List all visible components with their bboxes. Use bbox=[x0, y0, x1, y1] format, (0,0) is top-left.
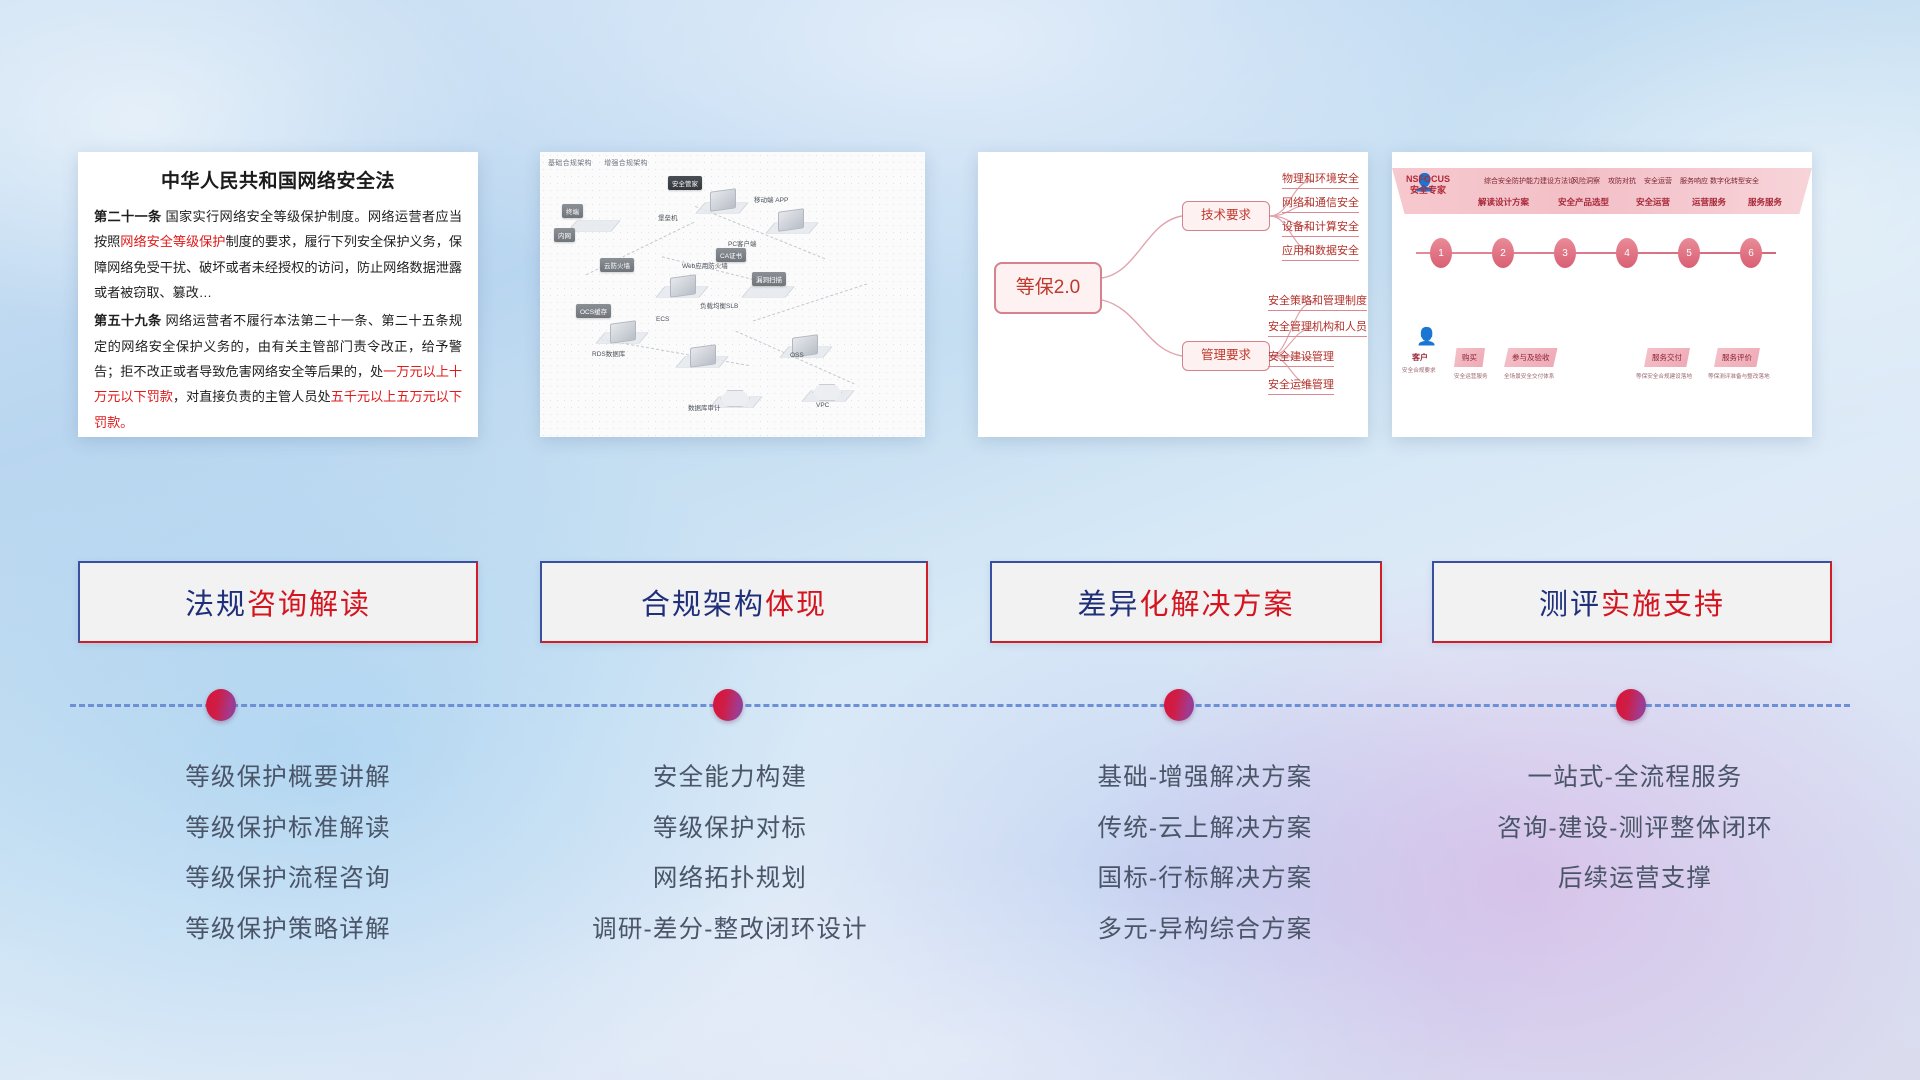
list-item: 等级保护策略详解 bbox=[78, 905, 498, 956]
list-item: 安全能力构建 bbox=[520, 753, 940, 804]
timeline-step: 3 bbox=[1554, 238, 1576, 268]
card-architecture-diagram: 基础合规架构 增强合规架构 bbox=[540, 152, 925, 437]
timeline-dot-2 bbox=[713, 689, 743, 721]
header-chip: 数字化转型安全 bbox=[1710, 176, 1759, 186]
arch-header-left: 基础合规架构 bbox=[548, 160, 592, 167]
bottom-tag: 服务评价 bbox=[1714, 348, 1760, 367]
timeline-dashed-line bbox=[70, 704, 1850, 707]
header-chip: 攻防对抗 bbox=[1608, 176, 1636, 186]
banner-label-2-blue: 合规架构 bbox=[641, 589, 765, 621]
banner-label-3: 差异化解决方案 bbox=[1077, 581, 1294, 623]
list-item: 调研-差分-整改闭环设计 bbox=[520, 905, 940, 956]
arch-cube bbox=[690, 344, 716, 368]
list-item: 一站式-全流程服务 bbox=[1430, 753, 1840, 804]
banner-button-compliance-architecture[interactable]: 合规架构体现 bbox=[540, 561, 928, 643]
banner-label-3-blue: 差异 bbox=[1077, 589, 1139, 621]
arch-node-chip: OCS缓存 bbox=[576, 304, 611, 318]
arch-label: 堡垒机 bbox=[658, 212, 678, 222]
arch-label: 负载均衡SLB bbox=[700, 300, 738, 310]
customer-person-icon: 👤 bbox=[1416, 328, 1437, 345]
arch-plate bbox=[567, 221, 620, 232]
banner-button-differentiated-solution[interactable]: 差异化解决方案 bbox=[990, 561, 1382, 643]
arch-header-right: 增强合规架构 bbox=[604, 160, 648, 167]
arch-node-chip: 终端 bbox=[562, 204, 583, 218]
mindmap-canvas: 等保2.0 技术要求 管理要求 物理和环境安全 网络和通信安全 设备和计算安全 … bbox=[978, 152, 1368, 437]
architecture-header: 基础合规架构 增强合规架构 bbox=[548, 158, 658, 168]
list-item: 基础-增强解决方案 bbox=[1010, 753, 1400, 804]
bottom-sub: 等保测评准备与整改落地 bbox=[1708, 372, 1770, 380]
header-chip: 风险洞察 bbox=[1572, 176, 1600, 186]
list-item: 等级保护对标 bbox=[520, 804, 940, 855]
arch-label: Web应用防火墙 bbox=[682, 260, 728, 270]
list-item: 传统-云上解决方案 bbox=[1010, 804, 1400, 855]
detail-list-support: 一站式-全流程服务 咨询-建设-测评整体闭环 后续运营支撑 bbox=[1430, 753, 1840, 905]
arch-plate bbox=[741, 287, 794, 298]
customer-label: 客户 bbox=[1412, 352, 1428, 363]
timeline-step: 5 bbox=[1678, 238, 1700, 268]
list-item: 多元-异构综合方案 bbox=[1010, 905, 1400, 956]
detail-list-solution: 基础-增强解决方案 传统-云上解决方案 国标-行标解决方案 多元-异构综合方案 bbox=[1010, 753, 1400, 955]
customer-sub: 安全合规要求 bbox=[1402, 366, 1436, 374]
list-item: 等级保护概要讲解 bbox=[78, 753, 498, 804]
mindmap-leaf: 网络和通信安全 bbox=[1282, 194, 1359, 213]
card-nsfocus-service-timeline: 👤 NSFOCUS 安全专家 综合安全防护能力建设方法论 风险洞察 攻防对抗 安… bbox=[1392, 152, 1812, 437]
bottom-sub: 等保安全合规建设落地 bbox=[1636, 372, 1692, 380]
bottom-sub: 全场景安全交付体系 bbox=[1504, 372, 1554, 380]
article-59-label: 第五十九条 bbox=[94, 313, 162, 328]
timeline-dot-3 bbox=[1164, 689, 1194, 721]
banner-label-4-blue: 测评 bbox=[1539, 589, 1601, 621]
arch-node-chip: 安全管家 bbox=[668, 176, 702, 190]
detail-list-architecture: 安全能力构建 等级保护对标 网络拓扑规划 调研-差分-整改闭环设计 bbox=[520, 753, 940, 955]
arch-label: RDS数据库 bbox=[592, 348, 625, 358]
mindmap-branch-technical: 技术要求 bbox=[1182, 201, 1270, 231]
arch-cube bbox=[710, 188, 736, 212]
header-chip: 安全运营 bbox=[1644, 176, 1672, 186]
header-chip: 综合安全防护能力建设方法论 bbox=[1484, 176, 1575, 186]
banner-label-1-blue: 法规 bbox=[185, 589, 247, 621]
mindmap-leaf: 安全管理机构和人员 bbox=[1268, 318, 1367, 337]
service-role: 安全运营 bbox=[1636, 196, 1670, 208]
timeline-step: 1 bbox=[1430, 238, 1452, 268]
list-item: 后续运营支撑 bbox=[1430, 854, 1840, 905]
bottom-tag: 购买 bbox=[1454, 348, 1485, 367]
banner-label-4-red: 实施支持 bbox=[1601, 589, 1725, 621]
header-chip: 服务响应 bbox=[1680, 176, 1708, 186]
card-law-text: 中华人民共和国网络安全法 第二十一条 国家实行网络安全等级保护制度。网络运营者应… bbox=[78, 152, 478, 437]
timeline-step: 2 bbox=[1492, 238, 1514, 268]
banner-label-2: 合规架构体现 bbox=[641, 581, 827, 623]
timeline-dot-4 bbox=[1616, 689, 1646, 721]
mindmap-root: 等保2.0 bbox=[994, 262, 1102, 314]
banner-label-4: 测评实施支持 bbox=[1539, 581, 1725, 623]
list-item: 网络拓扑规划 bbox=[520, 854, 940, 905]
arch-node-chip: 云防火墙 bbox=[600, 258, 634, 272]
service-role: 安全产品选型 bbox=[1558, 196, 1609, 208]
slide-canvas: 中华人民共和国网络安全法 第二十一条 国家实行网络安全等级保护制度。网络运营者应… bbox=[0, 0, 1920, 1080]
service-role: 服务服务 bbox=[1748, 196, 1782, 208]
timeline-step: 4 bbox=[1616, 238, 1638, 268]
nsfocus-brand: NSFOCUS 安全专家 bbox=[1406, 174, 1450, 197]
service-role: 解读设计方案 bbox=[1478, 196, 1529, 208]
nsfocus-timeline-line bbox=[1416, 252, 1776, 254]
arch-label: ECS bbox=[656, 316, 669, 323]
detail-list-regulation: 等级保护概要讲解 等级保护标准解读 等级保护流程咨询 等级保护策略详解 bbox=[78, 753, 498, 955]
law-title: 中华人民共和国网络安全法 bbox=[94, 166, 462, 193]
arch-cube bbox=[670, 274, 696, 298]
bottom-tag: 参与及验收 bbox=[1504, 348, 1558, 367]
banner-label-1-red: 咨询解读 bbox=[247, 589, 371, 621]
article-21-label: 第二十一条 bbox=[94, 209, 162, 224]
mindmap-branch-management: 管理要求 bbox=[1182, 341, 1270, 371]
timeline-dot-1 bbox=[206, 689, 236, 721]
mindmap-leaf: 安全建设管理 bbox=[1268, 348, 1334, 367]
banner-button-evaluation-support[interactable]: 测评实施支持 bbox=[1432, 561, 1832, 643]
arch-cube bbox=[610, 320, 636, 344]
arch-cube bbox=[778, 208, 804, 232]
banner-label-2-red: 体现 bbox=[765, 589, 827, 621]
law-article-21: 第二十一条 国家实行网络安全等级保护制度。网络运营者应当按照网络安全等级保护制度… bbox=[94, 204, 462, 305]
list-item: 国标-行标解决方案 bbox=[1010, 854, 1400, 905]
arch-label: PC客户端 bbox=[728, 238, 757, 248]
law-article-59: 第五十九条 网络运营者不履行本法第二十一条、第二十五条规定的网络安全保护义务的，… bbox=[94, 308, 462, 435]
article-59-part2: ，对直接负责的主管人员处 bbox=[173, 389, 331, 404]
arch-label: OSS bbox=[790, 352, 804, 359]
nsfocus-canvas: 👤 NSFOCUS 安全专家 综合安全防护能力建设方法论 风险洞察 攻防对抗 安… bbox=[1392, 152, 1812, 437]
mindmap-leaf: 安全策略和管理制度 bbox=[1268, 292, 1367, 311]
mindmap-leaf: 安全运维管理 bbox=[1268, 376, 1334, 395]
brand-line-1: NSFOCUS bbox=[1406, 174, 1450, 185]
arch-node-chip: 漏洞扫描 bbox=[752, 272, 786, 286]
architecture-canvas: 基础合规架构 增强合规架构 bbox=[540, 152, 925, 437]
card-mindmap: 等保2.0 技术要求 管理要求 物理和环境安全 网络和通信安全 设备和计算安全 … bbox=[978, 152, 1368, 437]
list-item: 等级保护流程咨询 bbox=[78, 854, 498, 905]
list-item: 等级保护标准解读 bbox=[78, 804, 498, 855]
arch-node-chip: 内网 bbox=[554, 228, 575, 242]
bottom-tag: 服务交付 bbox=[1644, 348, 1690, 367]
banner-label-1: 法规咨询解读 bbox=[185, 581, 371, 623]
article-21-highlight: 网络安全等级保护 bbox=[120, 234, 225, 249]
arch-label: VPC bbox=[816, 402, 829, 409]
law-body: 中华人民共和国网络安全法 第二十一条 国家实行网络安全等级保护制度。网络运营者应… bbox=[78, 152, 478, 437]
arch-label: 移动端 APP bbox=[754, 194, 788, 204]
mindmap-leaf: 设备和计算安全 bbox=[1282, 218, 1359, 237]
bottom-sub: 安全运营服务 bbox=[1454, 372, 1488, 380]
banner-label-3-red: 化解决方案 bbox=[1140, 589, 1295, 621]
list-item: 咨询-建设-测评整体闭环 bbox=[1430, 804, 1840, 855]
mindmap-leaf: 应用和数据安全 bbox=[1282, 242, 1359, 261]
banner-button-regulation-consulting[interactable]: 法规咨询解读 bbox=[78, 561, 478, 643]
arch-label: 数据库审计 bbox=[688, 402, 721, 412]
brand-line-2: 安全专家 bbox=[1406, 185, 1450, 196]
timeline-step: 6 bbox=[1740, 238, 1762, 268]
mindmap-leaf: 物理和环境安全 bbox=[1282, 170, 1359, 189]
service-role: 运营服务 bbox=[1692, 196, 1726, 208]
